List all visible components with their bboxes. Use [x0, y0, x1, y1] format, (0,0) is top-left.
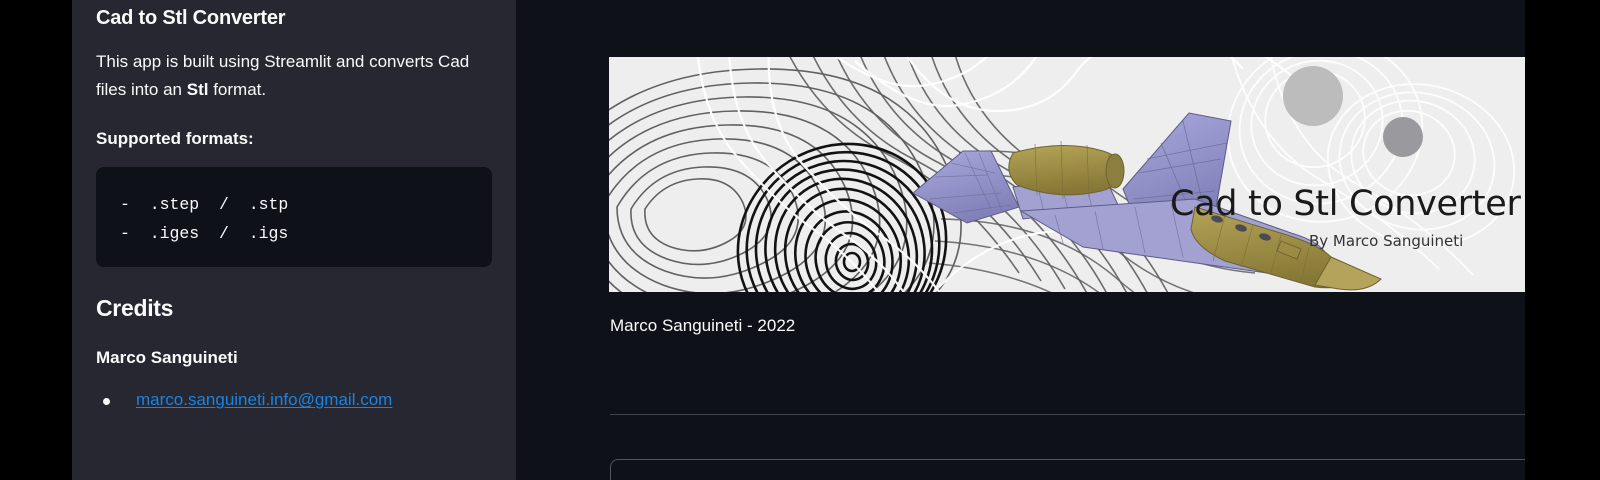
banner-caption: Marco Sanguineti - 2022 — [610, 316, 795, 336]
sidebar-description-part1: This app is built using Streamlit and co… — [96, 52, 469, 99]
supported-formats-heading: Supported formats: — [96, 129, 492, 149]
banner-title: Cad to Stl Converter — [1170, 184, 1521, 224]
left-gutter — [0, 0, 72, 480]
sidebar: Cad to Stl Converter This app is built u… — [72, 0, 516, 480]
banner-circle-large — [1283, 66, 1343, 126]
banner-circle-small — [1383, 117, 1423, 157]
credits-heading: Credits — [96, 295, 492, 322]
sidebar-description: This app is built using Streamlit and co… — [96, 48, 492, 103]
section-divider — [610, 414, 1525, 415]
sidebar-title: Cad to Stl Converter — [96, 0, 492, 30]
right-gutter — [1526, 0, 1600, 480]
banner-graphic — [609, 57, 1525, 292]
browser-viewport: Cad to Stl Converter This app is built u… — [72, 0, 1525, 480]
main-content: CAD to STL converter — [516, 0, 1525, 480]
credits-link-list: marco.sanguineti.info@gmail.com — [96, 390, 492, 410]
sidebar-description-bold: Stl — [187, 80, 209, 99]
supported-formats-codeblock: - .step / .stp - .iges / .igs — [96, 167, 492, 267]
email-link[interactable]: marco.sanguineti.info@gmail.com — [136, 390, 392, 409]
bullet-icon — [103, 398, 110, 405]
list-item: marco.sanguineti.info@gmail.com — [96, 390, 492, 410]
sidebar-description-part2: format. — [208, 80, 266, 99]
page-title: CAD to STL converter — [610, 0, 1092, 11]
file-uploader-panel[interactable] — [610, 459, 1525, 480]
supported-formats-code: - .step / .stp - .iges / .igs — [120, 191, 468, 249]
app-root: Cad to Stl Converter This app is built u… — [0, 0, 1600, 480]
credits-author-name: Marco Sanguineti — [96, 348, 492, 368]
banner-image: Cad to Stl Converter By Marco Sanguineti — [609, 57, 1525, 292]
banner-subtitle: By Marco Sanguineti — [1309, 232, 1463, 250]
